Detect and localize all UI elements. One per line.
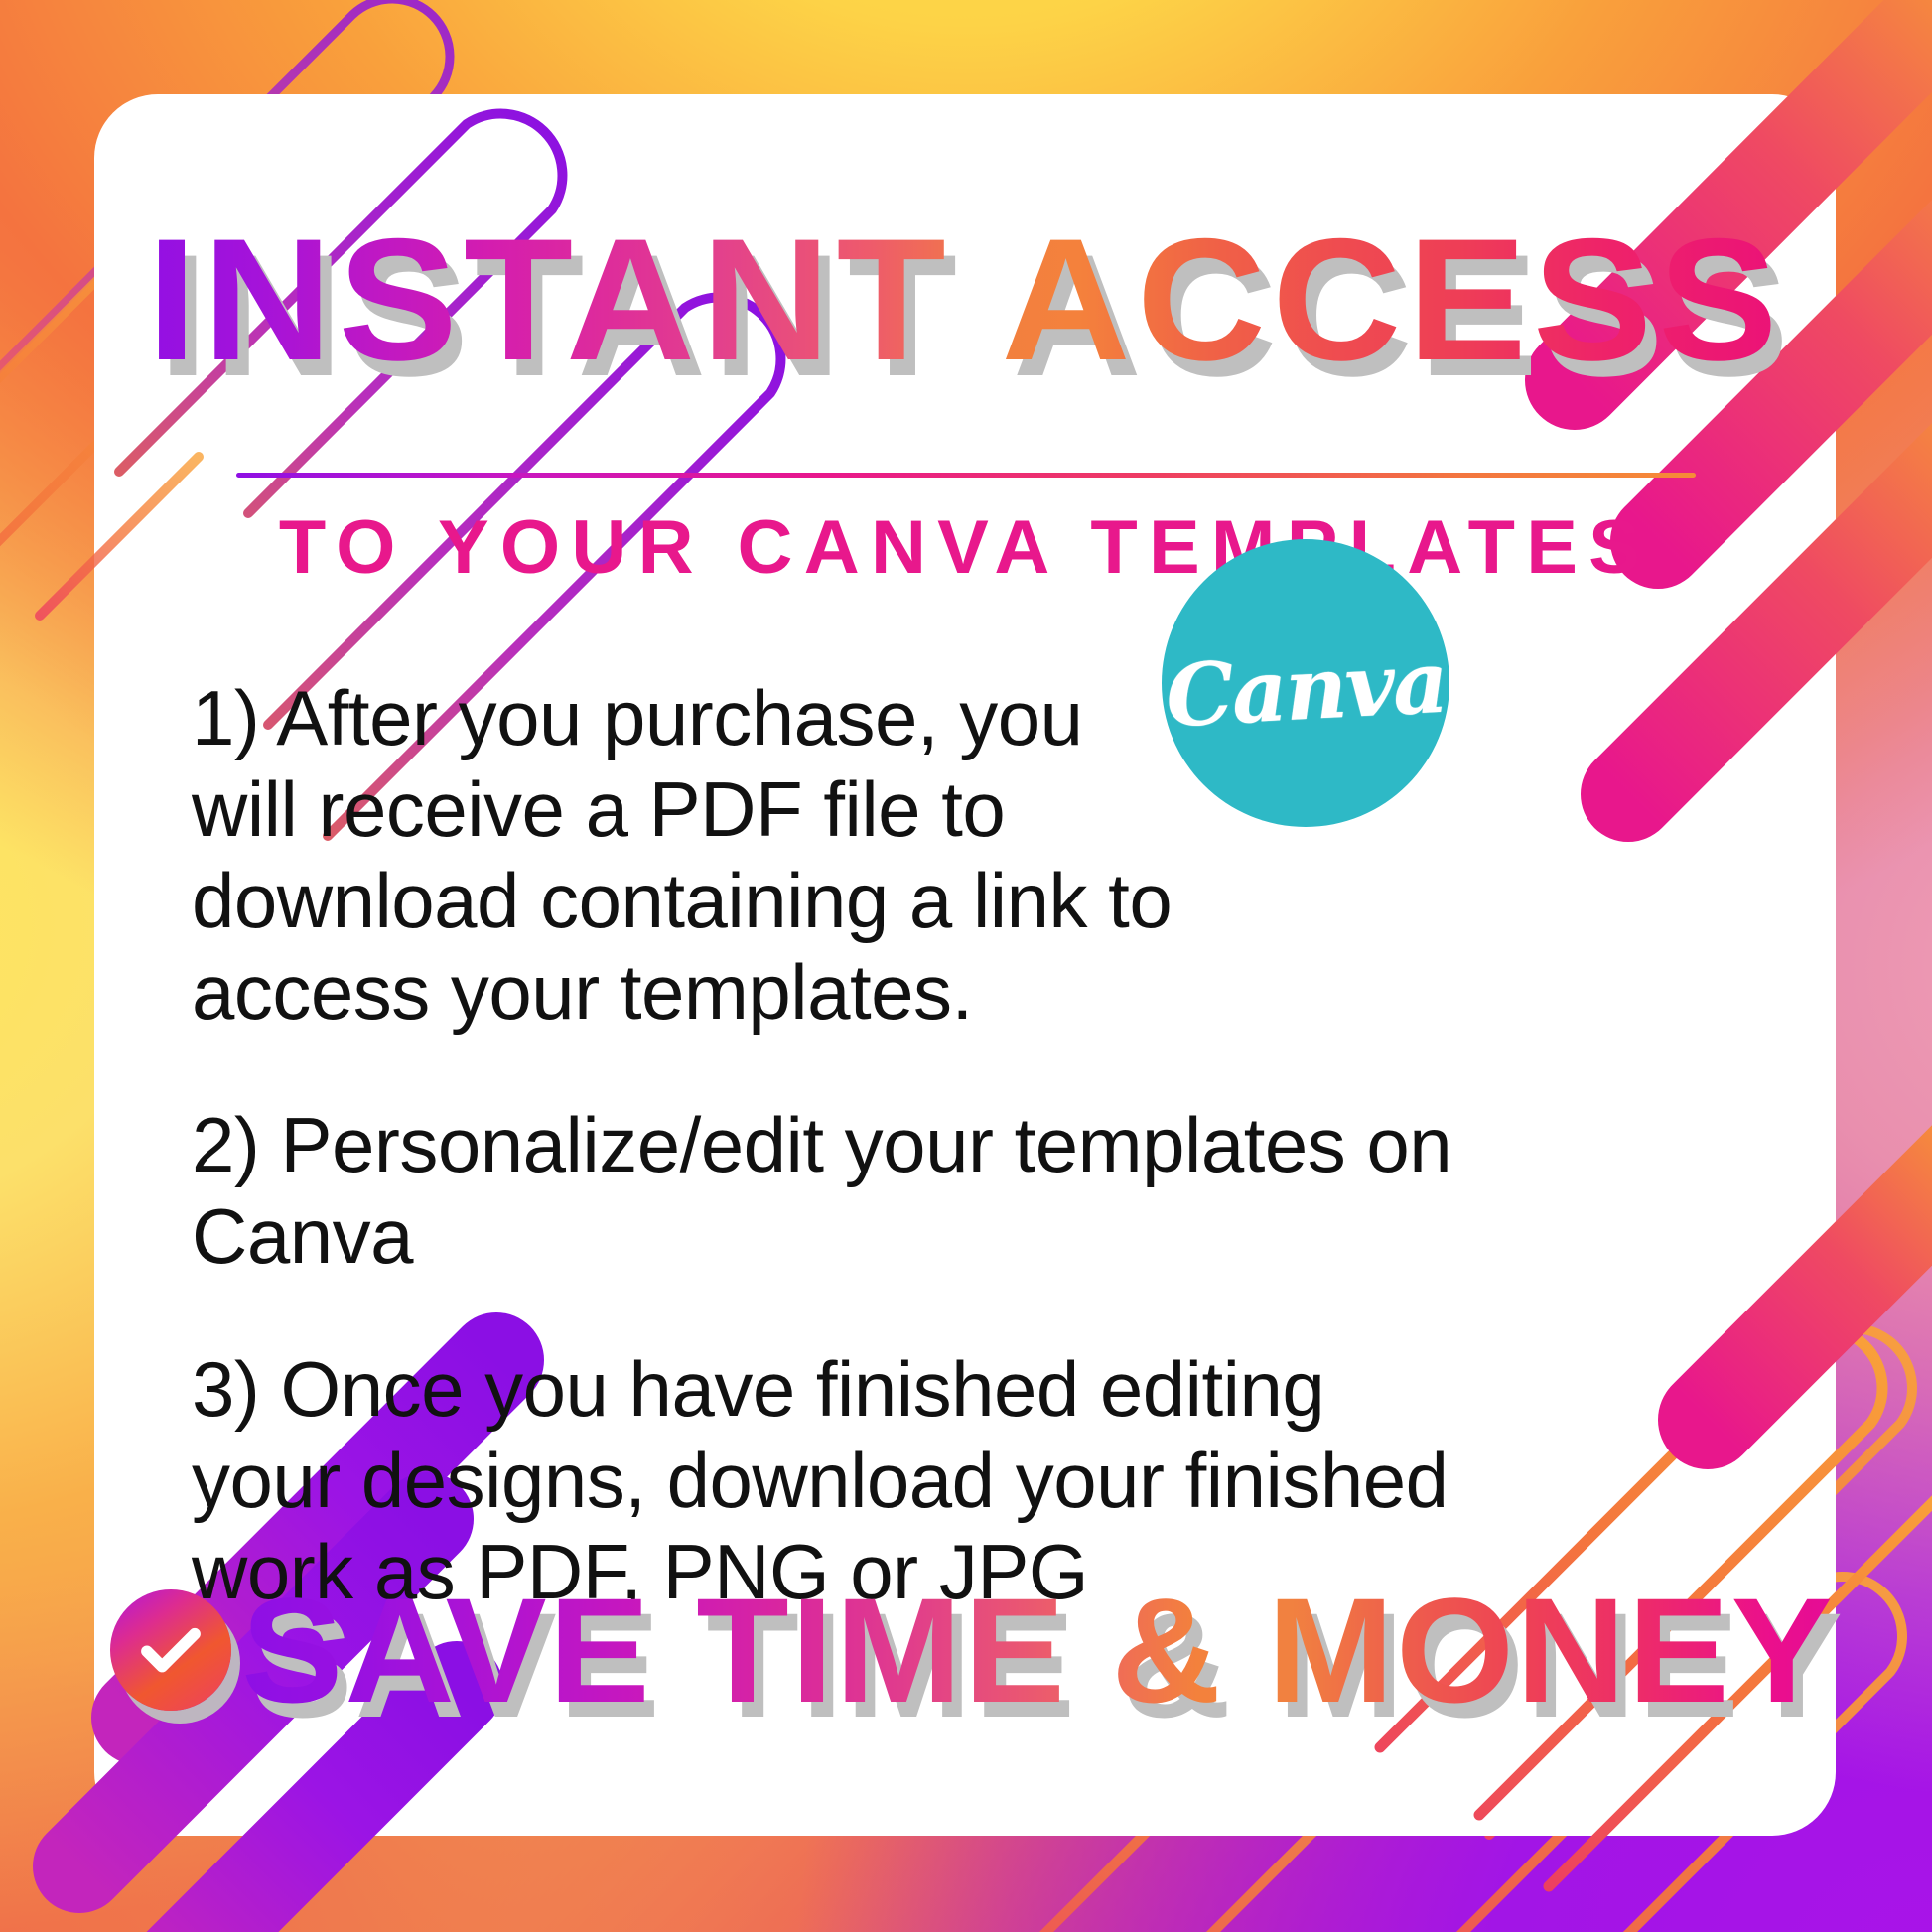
list-item: 1) After you purchase, you will receive … — [192, 672, 1184, 1037]
instruction-steps: 1) After you purchase, you will receive … — [192, 672, 1631, 1617]
page-title: INSTANT ACCESS INSTANT ACCESS — [147, 213, 1784, 387]
page-subtitle: TO YOUR CANVA TEMPLATES — [76, 504, 1853, 591]
banner-title: SAVE TIME & MONEY SAVE TIME & MONEY — [242, 1576, 1836, 1725]
save-time-money-banner: SAVE TIME & MONEY SAVE TIME & MONEY — [94, 1576, 1836, 1725]
list-item: 2) Personalize/edit your templates on Ca… — [192, 1099, 1631, 1282]
poster-content: INSTANT ACCESS INSTANT ACCESS TO YOUR CA… — [94, 94, 1836, 1836]
headline-text: INSTANT ACCESS — [147, 204, 1784, 397]
poster-canvas: INSTANT ACCESS INSTANT ACCESS TO YOUR CA… — [0, 0, 1932, 1932]
banner-title-text: SAVE TIME & MONEY — [242, 1567, 1836, 1733]
divider-rule — [236, 473, 1696, 478]
headline-block: INSTANT ACCESS INSTANT ACCESS — [94, 213, 1836, 387]
check-circle-icon — [110, 1589, 231, 1711]
